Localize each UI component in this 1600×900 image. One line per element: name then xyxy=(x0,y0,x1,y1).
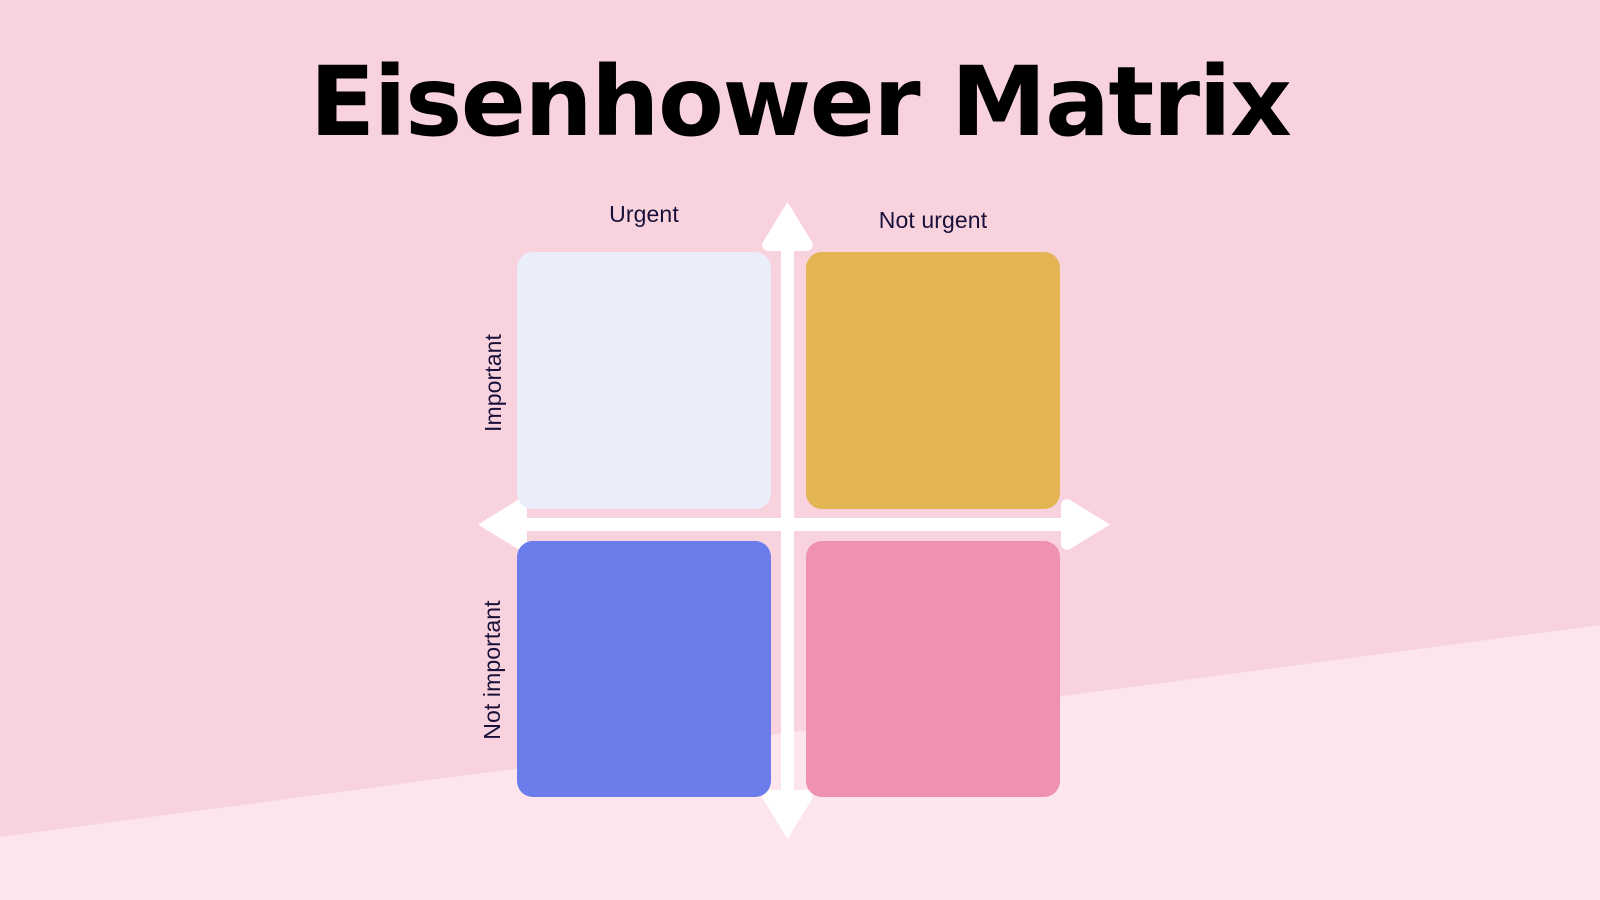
axis-label-not-important: Not important xyxy=(477,543,507,797)
arrow-down-icon xyxy=(762,790,813,839)
quadrant-not-urgent-not-important[interactable] xyxy=(806,541,1060,797)
eisenhower-matrix-canvas: Eisenhower Matrix Urgent Not urgent Impo… xyxy=(0,0,1600,900)
arrow-right-icon xyxy=(1061,499,1110,550)
axis-label-important: Important xyxy=(478,256,508,510)
quadrant-urgent-not-important[interactable] xyxy=(517,541,771,797)
quadrant-urgent-important[interactable] xyxy=(517,252,771,509)
matrix-body: Urgent Not urgent Important Not importan… xyxy=(0,0,1600,900)
quadrant-not-urgent-important[interactable] xyxy=(806,252,1060,509)
axis-label-not-urgent: Not urgent xyxy=(806,207,1060,234)
axis-label-urgent: Urgent xyxy=(517,201,771,228)
